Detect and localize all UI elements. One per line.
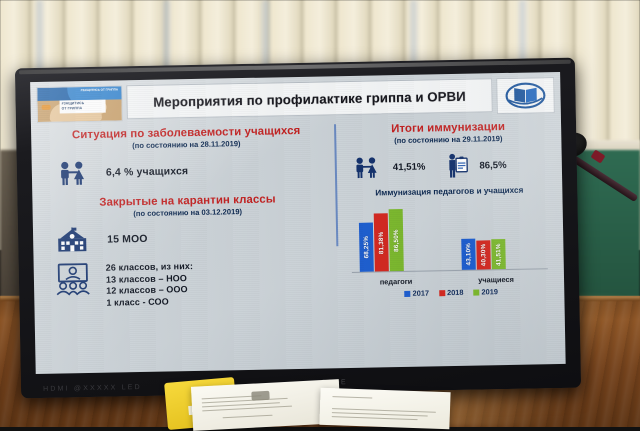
legend-label-2018: 2018 <box>447 288 464 297</box>
bar-group-students: 43,10% 40,30% 41,51% <box>461 238 506 270</box>
category-label-students: учащиеся <box>446 274 546 285</box>
open-book-icon <box>504 81 547 110</box>
legend-swatch-2019 <box>473 289 479 295</box>
column-divider <box>334 124 338 246</box>
monitor: HDMI @XXXXX LED CODE #ЗАЩИТИСЬ ОТ ГРИППА… <box>15 58 581 399</box>
document-sheet-2 <box>319 388 450 430</box>
students-immunization-value: 41,51% <box>393 161 426 173</box>
bar-2017-teachers: 68,25% <box>359 223 374 272</box>
two-children-icon <box>56 160 90 187</box>
legend-label-2019: 2019 <box>481 287 498 296</box>
immunization-bar-chart: 68,25% 81,38% 86,50% 43,10% <box>344 197 552 289</box>
legend-item-2018: 2018 <box>439 288 464 297</box>
list-item: 1 класс - СОО <box>106 296 193 309</box>
immunization-stats-row: 41,51% 86,5% <box>344 151 554 181</box>
bar-group-teachers: 68,25% 81,38% 86,50% <box>359 209 404 272</box>
promo-banner-small-text: #ЗАЩИТИСЬ ОТ ГРИППА <box>79 88 119 92</box>
chart-bars: 68,25% 81,38% 86,50% 43,10% <box>344 196 551 272</box>
slide-header: #ЗАЩИТИСЬ ОТ ГРИППА #ЗАЩИТИСЬ ОТ ГРИППА … <box>36 77 555 121</box>
promo-hashtag-text: #ЗАЩИТИСЬ ОТ ГРИППА <box>62 101 106 111</box>
bar-label: 81,38% <box>378 231 385 254</box>
list-item: 12 классов – ООО <box>106 284 193 297</box>
organization-logo-box <box>496 77 555 114</box>
promo-orange-tab <box>42 105 51 110</box>
right-column: Итоги иммунизации (по состоянию на 29.11… <box>343 120 556 299</box>
school-stat-row: 15 МОО <box>43 222 333 254</box>
promo-hashtag-line2: ОТ ГРИППА <box>62 106 83 110</box>
category-label-teachers: педагоги <box>346 276 446 287</box>
incidence-stat-row: 6,4 % учащихся <box>42 155 332 187</box>
monitor-screen[interactable]: #ЗАЩИТИСЬ ОТ ГРИППА #ЗАЩИТИСЬ ОТ ГРИППА … <box>30 72 566 374</box>
legend-item-2019: 2019 <box>473 287 498 296</box>
classes-breakdown-row: 26 классов, из них: 13 классов – НОО 12 … <box>44 258 335 310</box>
bar-2018-teachers: 81,38% <box>374 213 389 271</box>
bar-label: 86,50% <box>393 229 400 252</box>
bar-label: 41,51% <box>495 243 502 266</box>
bar-2019-students: 41,51% <box>491 239 506 269</box>
slide-title-box: Мероприятия по профилактике гриппа и ОРВ… <box>126 78 493 119</box>
legend-swatch-2018 <box>439 290 445 296</box>
teachers-immunization-value: 86,5% <box>479 159 506 171</box>
bar-2018-students: 40,30% <box>476 240 491 269</box>
bar-label: 43,10% <box>465 243 472 266</box>
presentation-slide: #ЗАЩИТИСЬ ОТ ГРИППА #ЗАЩИТИСЬ ОТ ГРИППА … <box>30 72 566 374</box>
bar-2017-students: 43,10% <box>461 239 476 270</box>
promo-banner: #ЗАЩИТИСЬ ОТ ГРИППА #ЗАЩИТИСЬ ОТ ГРИППА <box>36 85 123 123</box>
legend-swatch-2017 <box>405 290 411 296</box>
left-column: Ситуация по заболеваемости учащихся (по … <box>41 124 334 310</box>
bar-label: 68,25% <box>363 236 370 259</box>
two-children-icon <box>352 155 382 180</box>
slide-title: Мероприятия по профилактике гриппа и ОРВ… <box>153 88 466 109</box>
school-building-icon <box>57 227 87 254</box>
school-count-value: 15 МОО <box>107 233 148 245</box>
legend-label-2017: 2017 <box>413 288 430 297</box>
classes-breakdown-list: 26 классов, из них: 13 классов – НОО 12 … <box>106 261 194 309</box>
bar-2019-teachers: 86,50% <box>389 209 404 271</box>
classroom-icon <box>56 263 91 296</box>
teacher-clipboard-icon <box>446 153 468 179</box>
incidence-value: 6,4 % учащихся <box>106 166 189 179</box>
chart-category-labels: педагоги учащиеся <box>346 274 552 287</box>
bar-label: 40,30% <box>480 244 487 267</box>
legend-item-2017: 2017 <box>405 288 430 297</box>
